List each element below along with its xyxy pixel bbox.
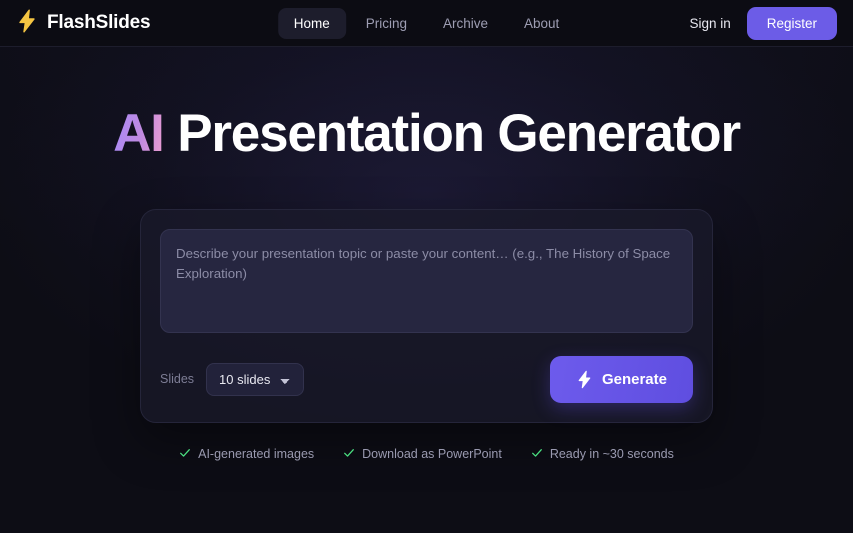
page-title: AI Presentation Generator	[113, 106, 740, 162]
feature-label: Ready in ~30 seconds	[550, 447, 674, 461]
nav-item-about[interactable]: About	[508, 8, 575, 39]
register-button[interactable]: Register	[747, 7, 837, 40]
feature-label: AI-generated images	[198, 447, 314, 461]
slides-count-select[interactable]: 5 slides 10 slides 15 slides 20 slides	[206, 363, 304, 396]
nav-item-archive[interactable]: Archive	[427, 8, 504, 39]
generator-controls: Slides 5 slides 10 slides 15 slides 20 s…	[160, 356, 693, 403]
bolt-icon	[576, 370, 593, 389]
feature-item-powerpoint: Download as PowerPoint	[343, 447, 502, 462]
app-header: FlashSlides Home Pricing Archive About S…	[0, 0, 853, 47]
generate-button[interactable]: Generate	[550, 356, 693, 403]
nav-item-pricing[interactable]: Pricing	[350, 8, 423, 39]
page-title-rest: Presentation Generator	[164, 104, 740, 163]
check-icon	[343, 447, 355, 462]
slides-label: Slides	[160, 372, 194, 386]
sign-in-link[interactable]: Sign in	[689, 16, 730, 31]
feature-list: AI-generated images Download as PowerPoi…	[179, 447, 674, 462]
header-actions: Sign in Register	[689, 7, 837, 40]
nav-item-home[interactable]: Home	[278, 8, 346, 39]
main-content: AI Presentation Generator Slides 5 slide…	[0, 47, 853, 533]
topic-input[interactable]	[160, 229, 693, 333]
brand-logo[interactable]: FlashSlides	[16, 9, 150, 38]
generate-button-label: Generate	[602, 371, 667, 388]
page-title-accent: AI	[113, 104, 164, 163]
main-navigation: Home Pricing Archive About	[278, 8, 576, 39]
feature-item-ai-images: AI-generated images	[179, 447, 314, 462]
check-icon	[531, 447, 543, 462]
bolt-icon	[16, 9, 38, 38]
brand-name: FlashSlides	[47, 12, 150, 34]
hero-section: AI Presentation Generator Slides 5 slide…	[0, 47, 853, 462]
feature-label: Download as PowerPoint	[362, 447, 502, 461]
check-icon	[179, 447, 191, 462]
feature-item-speed: Ready in ~30 seconds	[531, 447, 674, 462]
generator-card: Slides 5 slides 10 slides 15 slides 20 s…	[140, 209, 713, 423]
